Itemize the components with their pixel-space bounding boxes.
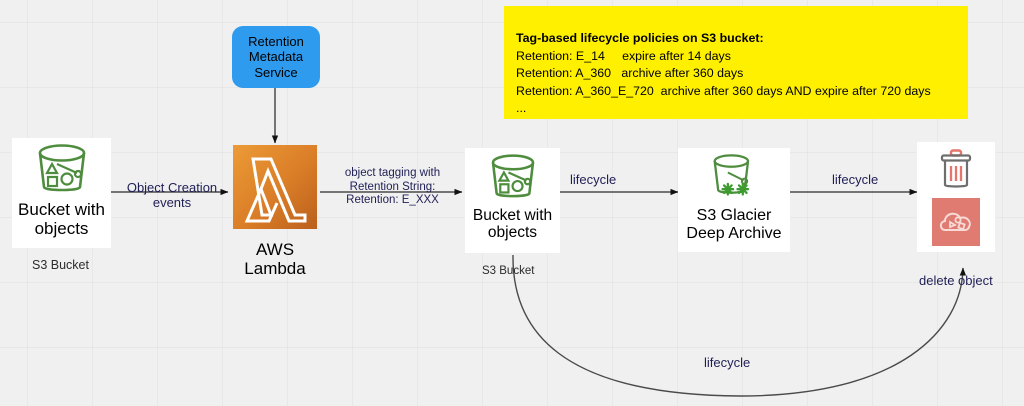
- node-tagged-bucket[interactable]: Bucket with objects: [465, 148, 560, 253]
- node-delete-object[interactable]: [917, 142, 995, 252]
- tagged-bucket-label: Bucket with objects: [473, 207, 552, 242]
- source-bucket-label: Bucket with objects: [18, 200, 105, 238]
- node-aws-lambda[interactable]: AWS Lambda: [230, 145, 320, 250]
- note-line-2: Retention: A_360_E_720 archive after 360…: [516, 83, 968, 101]
- s3-bucket-icon: [29, 144, 95, 199]
- node-s3-glacier-deep-archive[interactable]: S3 Glacier Deep Archive: [678, 148, 790, 252]
- edge-label-lifecycle-bottom: lifecycle: [704, 355, 788, 370]
- edge-label-delete-object: delete object: [919, 273, 1019, 288]
- glacier-label: S3 Glacier Deep Archive: [686, 207, 781, 243]
- edge-label-object-creation: Object Creation events: [124, 180, 220, 211]
- edge-label-object-tagging: object tagging with Retention String: Re…: [330, 167, 455, 208]
- aws-lambda-icon: [231, 145, 319, 238]
- edge-label-lifecycle-to-glacier: lifecycle: [570, 172, 654, 187]
- source-bucket-caption: S3 Bucket: [32, 258, 89, 272]
- s3-glacier-deep-archive-icon: [705, 153, 763, 204]
- note-line-3: ...: [516, 100, 968, 118]
- retention-metadata-service-label: Retention Metadata Service: [248, 34, 304, 80]
- s3-bucket-icon: [483, 154, 543, 205]
- tag-based-lifecycle-note: Tag-based lifecycle policies on S3 bucke…: [504, 6, 968, 119]
- note-line-1: Retention: A_360 archive after 360 days: [516, 65, 968, 83]
- edge-lifecycle-bottom-curve: [513, 255, 963, 396]
- edge-label-lifecycle-to-delete: lifecycle: [832, 172, 916, 187]
- node-retention-metadata-service[interactable]: Retention Metadata Service: [232, 26, 320, 88]
- cloud-objects-icon: [932, 198, 980, 251]
- tagged-bucket-caption: S3 Bucket: [482, 265, 534, 277]
- node-source-bucket[interactable]: Bucket with objects: [12, 138, 111, 248]
- note-title: Tag-based lifecycle policies on S3 bucke…: [516, 30, 968, 48]
- note-line-0: Retention: E_14 expire after 14 days: [516, 48, 968, 66]
- aws-lambda-label: AWS Lambda: [230, 240, 320, 278]
- trash-can-icon: [934, 148, 978, 197]
